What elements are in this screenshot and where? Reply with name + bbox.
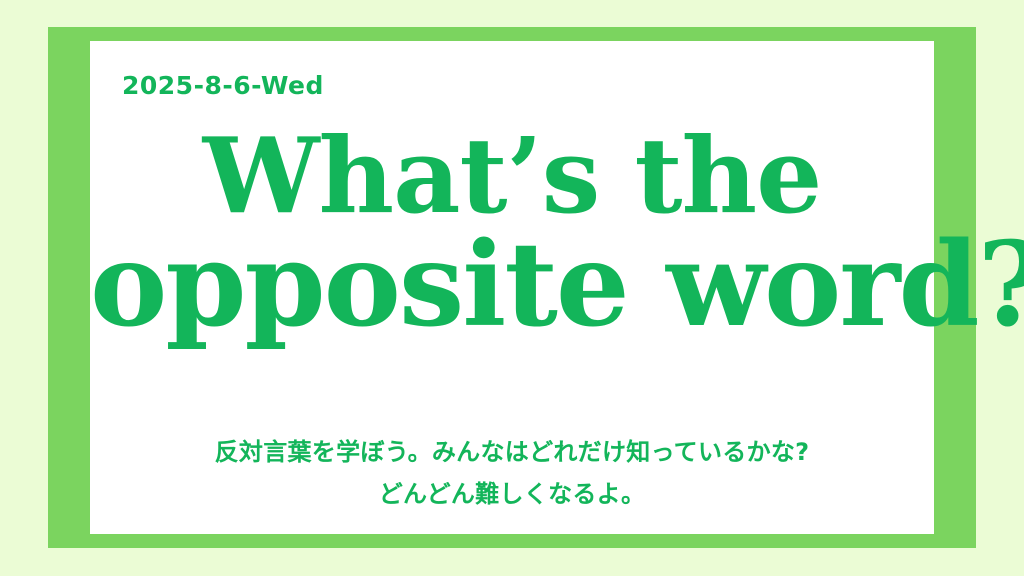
page-title-line-2: opposite word?: [90, 230, 934, 340]
subtitle-line-2: どんどん難しくなるよ。: [90, 473, 934, 515]
green-frame: 2025-8-6-Wed What’s the opposite word? 反…: [48, 27, 976, 548]
white-card: 2025-8-6-Wed What’s the opposite word? 反…: [90, 41, 934, 534]
date-label: 2025-8-6-Wed: [122, 73, 324, 98]
slide-canvas: 2025-8-6-Wed What’s the opposite word? 反…: [0, 0, 1024, 576]
subtitle: 反対言葉を学ぼう。みんなはどれだけ知っているかな? どんどん難しくなるよ。: [90, 431, 934, 515]
page-title-line-1: What’s the: [90, 127, 934, 226]
subtitle-line-1: 反対言葉を学ぼう。みんなはどれだけ知っているかな?: [90, 431, 934, 473]
page-title: What’s the opposite word?: [90, 127, 934, 340]
